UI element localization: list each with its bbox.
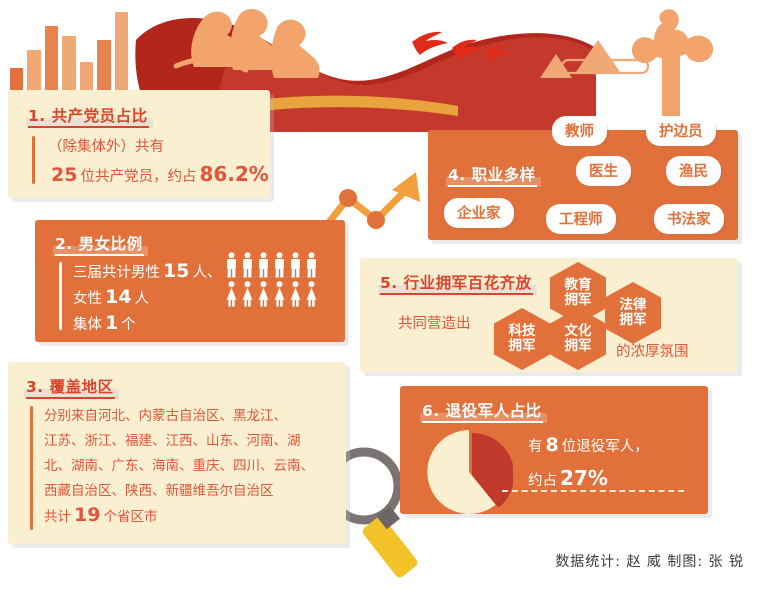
section-6-count: 8 (543, 434, 562, 456)
section-5-lead-text: 共同营造出 (398, 312, 471, 333)
female-person-icon (289, 281, 302, 307)
section-3-line4: 西藏自治区、陕西、新疆维吾尔自治区 (44, 479, 314, 504)
occupation-chip-fisherman[interactable]: 渔民 (666, 156, 721, 186)
occupation-chip-engineer[interactable]: 工程师 (546, 204, 616, 234)
section-1-line1: （除集体外）共有 (48, 135, 164, 156)
infographic-canvas: 1. 共产党员占比 （除集体外）共有 25 位共产党员，约占 86.2% 2. … (0, 0, 760, 597)
male-icon-row (225, 252, 318, 278)
hex-education-line2: 拥军 (565, 293, 592, 308)
occupation-chip-entrepreneur[interactable]: 企业家 (444, 198, 514, 228)
section-6-line2-a: 约占 (528, 469, 557, 490)
gender-icon-group (225, 252, 318, 307)
female-person-icon (273, 281, 286, 307)
female-person-icon (305, 281, 318, 307)
occupation-chip-border-guard[interactable]: 护边员 (646, 116, 716, 146)
section-1-count: 25 (48, 164, 80, 186)
female-person-icon (241, 281, 254, 307)
section-2-row3-b: 个 (121, 313, 136, 334)
section-4-title: 4. 职业多样 (446, 162, 541, 187)
section-2-title: 2. 男女比例 (53, 231, 148, 256)
section-3-province-count: 19 (71, 504, 103, 526)
section-3-line1: 分别来自河北、内蒙古自治区、黑龙江、 (44, 404, 314, 429)
hex-technology-line1: 科技 (509, 324, 536, 339)
male-person-icon (273, 252, 286, 278)
section-1-percent: 86.2% (196, 162, 271, 186)
section-6-panel: 6. 退役军人占比 有 8 位退役军人， 约占 27% (400, 386, 708, 514)
hex-law: 法律 拥军 (605, 282, 661, 344)
section-6-title: 6. 退役军人占比 (420, 398, 547, 423)
section-3-line3: 北、湖南、广东、海南、重庆、四川、云南、 (44, 454, 314, 479)
male-person-icon (257, 252, 270, 278)
male-person-icon (225, 252, 238, 278)
section-1-line2-text: 位共产党员，约占 (80, 165, 196, 186)
section-5-title: 5. 行业拥军百花齐放 (378, 270, 537, 295)
hex-law-line2: 拥军 (620, 313, 647, 328)
accent-rule (59, 262, 62, 330)
section-2-female-count: 14 (102, 286, 134, 308)
hex-education-line1: 教育 (565, 278, 592, 293)
hex-technology: 科技 拥军 (494, 308, 550, 370)
section-6-line1-b: 位退役军人， (562, 435, 649, 456)
section-5-panel: 5. 行业拥军百花齐放 共同营造出 教育 拥军 法律 拥军 科技 拥军 文化 拥… (360, 258, 738, 372)
section-6-line1-a: 有 (528, 435, 543, 456)
section-3-line5-a: 共计 (44, 505, 71, 525)
section-5-tail-text: 的浓厚氛围 (616, 340, 689, 361)
bar-chart-icon (10, 18, 128, 98)
male-person-icon (241, 252, 254, 278)
pie-leader-line (502, 490, 684, 492)
credits-footer: 数据统计: 赵 威 制图: 张 锐 (555, 551, 744, 571)
occupation-chip-calligrapher[interactable]: 书法家 (654, 204, 724, 234)
section-2-row1-b: 人、 (192, 261, 221, 282)
monument-icon (610, 6, 730, 126)
occupation-chip-teacher[interactable]: 教师 (552, 116, 607, 146)
accent-rule (32, 136, 35, 184)
section-2-row2-a: 女性 (73, 287, 102, 308)
section-6-percent: 27% (557, 466, 611, 490)
hex-technology-line2: 拥军 (509, 339, 536, 354)
section-2-male-count: 15 (160, 260, 192, 282)
section-2-panel: 2. 男女比例 三届共计男性 15 人、 女性 14 人 集体 1 个 (35, 220, 345, 342)
female-person-icon (225, 281, 238, 307)
occupation-chip-doctor[interactable]: 医生 (576, 156, 631, 186)
female-icon-row (225, 281, 318, 307)
hex-culture-line2: 拥军 (565, 339, 592, 354)
hex-law-line1: 法律 (620, 298, 647, 313)
section-1-title: 1. 共产党员占比 (26, 103, 153, 128)
section-2-group-count: 1 (102, 312, 121, 334)
section-3-panel: 3. 覆盖地区 分别来自河北、内蒙古自治区、黑龙江、 江苏、浙江、福建、江西、山… (8, 362, 346, 544)
section-3-title: 3. 覆盖地区 (24, 374, 119, 399)
section-3-line2: 江苏、浙江、福建、江西、山东、河南、湖 (44, 429, 314, 454)
section-2-row1-a: 三届共计男性 (73, 261, 160, 282)
section-1-panel: 1. 共产党员占比 （除集体外）共有 25 位共产党员，约占 86.2% (8, 90, 270, 198)
section-2-row2-b: 人 (134, 287, 149, 308)
hex-culture-line1: 文化 (565, 324, 592, 339)
section-3-line5-b: 个省区市 (103, 505, 157, 525)
section-4-panel: 4. 职业多样 教师 护边员 医生 渔民 企业家 工程师 书法家 (428, 130, 738, 240)
retired-soldier-pie-chart (425, 428, 513, 516)
male-person-icon (289, 252, 302, 278)
male-person-icon (305, 252, 318, 278)
hex-culture: 文化 拥军 (550, 308, 606, 370)
flying-birds-icon (408, 22, 528, 72)
section-2-row3-a: 集体 (73, 313, 102, 334)
accent-rule (30, 406, 33, 530)
female-person-icon (257, 281, 270, 307)
